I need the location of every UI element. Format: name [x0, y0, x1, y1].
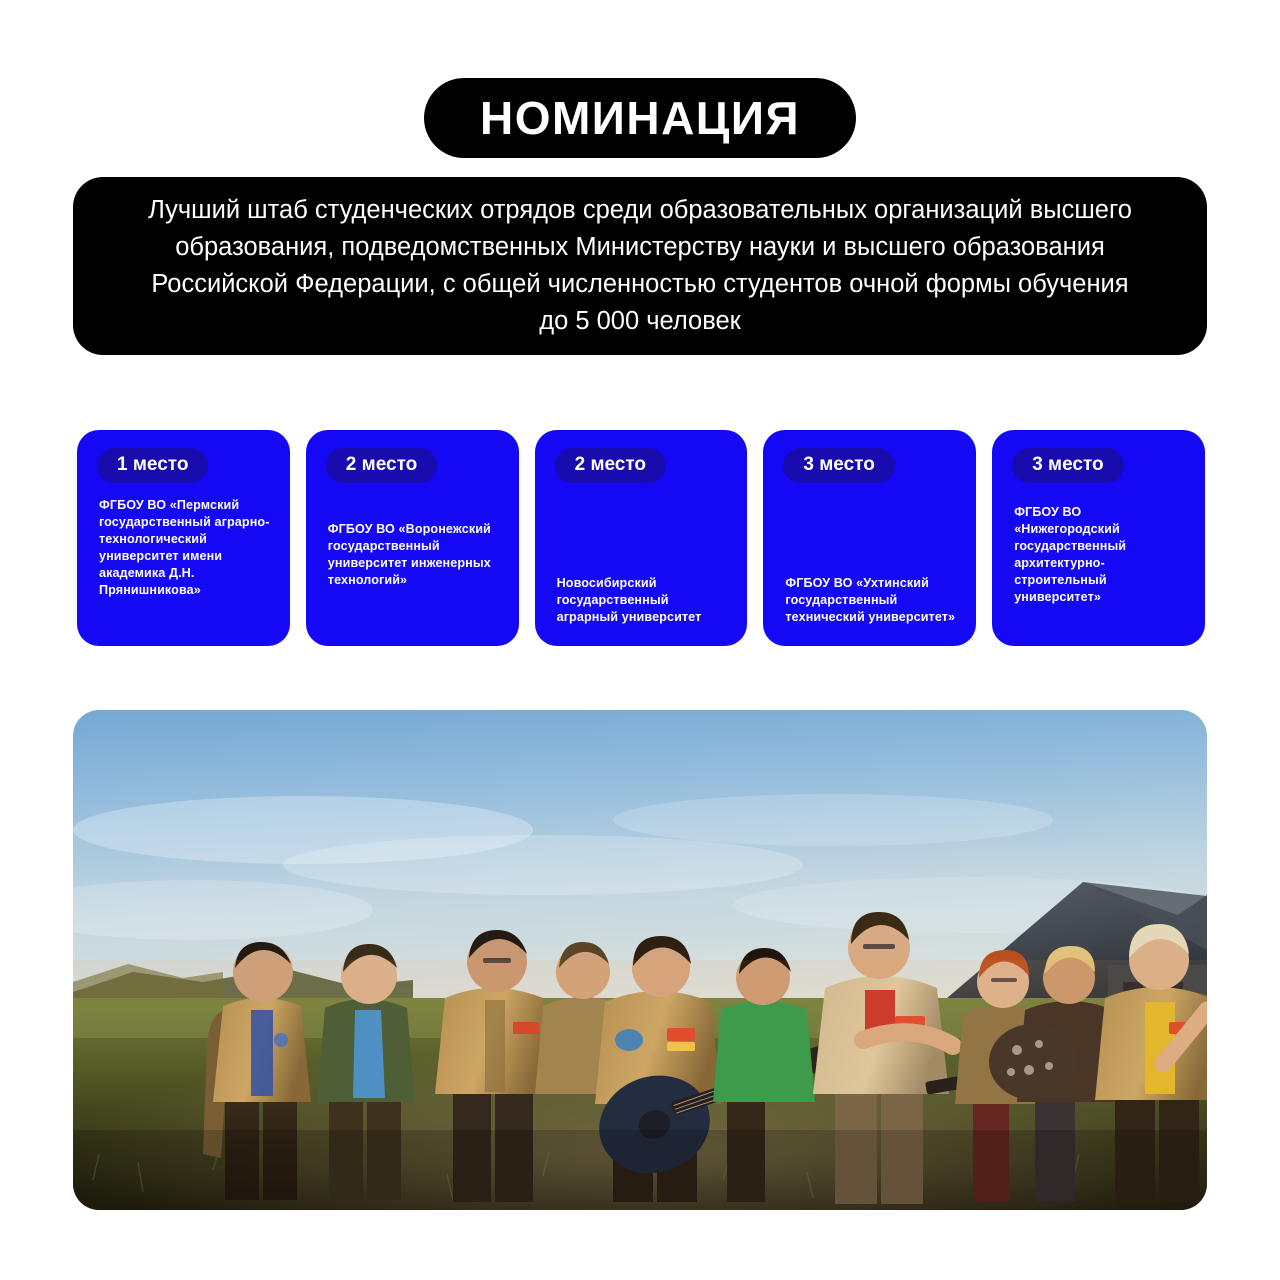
winner-card[interactable]: 2 место ФГБОУ ВО «Воронежский государств… — [306, 430, 519, 646]
winner-place-label: 1 место — [117, 454, 188, 475]
winner-place-label: 2 место — [575, 454, 646, 475]
winner-organization: Новосибирский государственный аграрный у… — [557, 575, 730, 626]
students-photo — [73, 710, 1207, 1210]
page-title: НОМИНАЦИЯ — [480, 95, 800, 141]
status-badge: 2 место — [326, 448, 437, 483]
winner-card[interactable]: 1 место ФГБОУ ВО «Пермский государственн… — [77, 430, 290, 646]
winner-card-body: Новосибирский государственный аграрный у… — [551, 483, 732, 630]
winner-organization: ФГБОУ ВО «Воронежский государственный ун… — [328, 521, 501, 589]
status-badge: 3 место — [783, 448, 894, 483]
nomination-title-pill: НОМИНАЦИЯ — [424, 78, 856, 158]
status-badge: 3 место — [1012, 448, 1123, 483]
winner-card[interactable]: 2 место Новосибирский государственный аг… — [535, 430, 748, 646]
students-photo-illustration — [73, 710, 1207, 1210]
winner-card-body: ФГБОУ ВО «Воронежский государственный ун… — [322, 483, 503, 630]
winner-organization: ФГБОУ ВО «Пермский государственный аграр… — [99, 497, 272, 599]
winner-organization: ФГБОУ ВО «Ухтинский государственный техн… — [785, 575, 958, 626]
poster-page: НОМИНАЦИЯ Лучший штаб студенческих отряд… — [0, 0, 1280, 1280]
winner-card-body: ФГБОУ ВО «Пермский государственный аграр… — [93, 483, 274, 630]
winner-card-body: ФГБОУ ВО «Нижегородский государственный … — [1008, 483, 1189, 630]
winner-card[interactable]: 3 место ФГБОУ ВО «Ухтинский государствен… — [763, 430, 976, 646]
winner-place-label: 3 место — [803, 454, 874, 475]
status-badge: 1 место — [97, 448, 208, 483]
winner-organization: ФГБОУ ВО «Нижегородский государственный … — [1014, 504, 1187, 606]
status-badge: 2 место — [555, 448, 666, 483]
winner-place-label: 3 место — [1032, 454, 1103, 475]
winner-card[interactable]: 3 место ФГБОУ ВО «Нижегородский государс… — [992, 430, 1205, 646]
winner-place-label: 2 место — [346, 454, 417, 475]
nomination-description-text: Лучший штаб студенческих отрядов среди о… — [140, 192, 1140, 340]
winners-list: 1 место ФГБОУ ВО «Пермский государственн… — [77, 430, 1205, 646]
winner-card-body: ФГБОУ ВО «Ухтинский государственный техн… — [779, 483, 960, 630]
nomination-description-panel: Лучший штаб студенческих отрядов среди о… — [73, 177, 1207, 355]
